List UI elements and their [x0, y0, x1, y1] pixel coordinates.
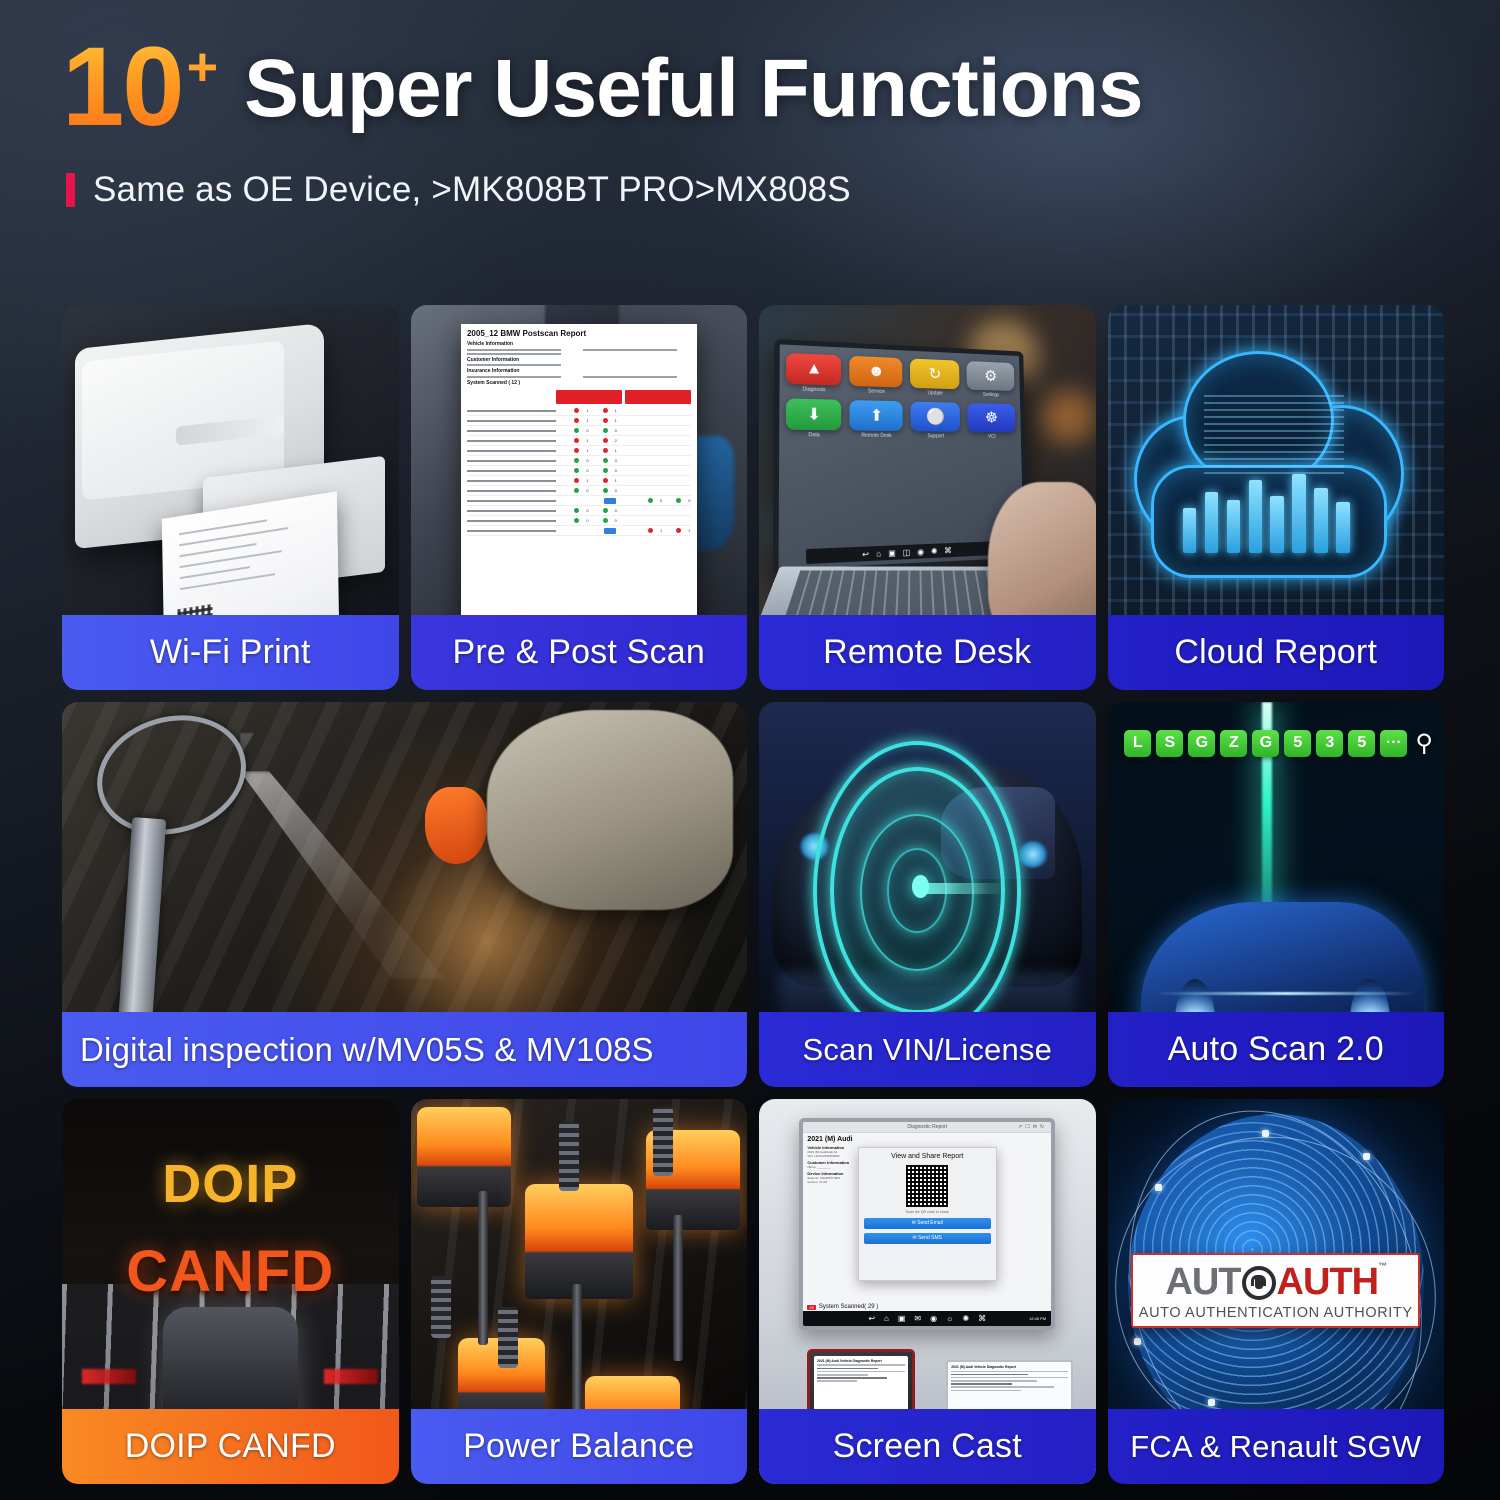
feature-card-screen-cast[interactable]: Diagnostic Report ↗☐✉↻ 2021 (M) Audi Veh… — [759, 1099, 1096, 1484]
tablet-screen: Diagnostic Report ↗☐✉↻ 2021 (M) Audi Veh… — [803, 1122, 1051, 1326]
app-grid: ▲ Diagnosis ☻ Service ↻ Update ⚙ — [786, 352, 1016, 439]
vin-char: S — [1156, 730, 1183, 757]
page-subtitle: Same as OE Device, >MK808BT PRO>MX808S — [93, 170, 851, 210]
system-scanned-label: System Scanned( 29 ) — [819, 1304, 878, 1310]
card-label-scan-vin-license: Scan VIN/License — [759, 1012, 1096, 1087]
page-header: 10 + Super Useful Functions Same as OE D… — [62, 34, 1440, 210]
report-section-insurance: Insurance Information — [467, 368, 691, 374]
feature-card-power-balance[interactable]: Power Balance — [411, 1099, 748, 1484]
subtitle-accent-bar — [66, 173, 75, 207]
card-label-fca-renault-sgw: FCA & Renault SGW — [1108, 1409, 1445, 1484]
feature-card-doip-canfd[interactable]: DOIP CANFD DOIP CANFD — [62, 1099, 399, 1484]
screenshot-icon[interactable]: ◫ — [903, 547, 911, 557]
column-postscan — [625, 390, 691, 404]
card-label-auto-scan: Auto Scan 2.0 — [1108, 1012, 1445, 1087]
vin-char-ellipsis: ··· — [1380, 730, 1407, 757]
vin-char: 5 — [1284, 730, 1311, 757]
gear-icon[interactable]: ⚙ — [967, 361, 1015, 391]
report-row-list: 11 11 00 12 11 00 00 11 00 00 00 00 11 — [467, 406, 691, 536]
home-icon[interactable]: ⌂ — [884, 1314, 889, 1323]
apps-icon[interactable]: ▣ — [888, 548, 896, 558]
recents-icon[interactable]: ▣ — [898, 1314, 906, 1323]
feature-card-auto-scan[interactable]: L S G Z G 5 3 5 ··· ⚲ Auto Scan 2.0 — [1108, 702, 1445, 1087]
vin-char: Z — [1220, 730, 1247, 757]
table-row: 00 — [467, 426, 691, 436]
subtitle-row: Same as OE Device, >MK808BT PRO>MX808S — [66, 170, 1440, 210]
vci-icon[interactable]: ⌘ — [978, 1314, 986, 1323]
vin-char: G — [1188, 730, 1215, 757]
report-vehicle-title: 2021 (M) Audi — [807, 1136, 901, 1143]
update-icon[interactable]: ↻ — [910, 358, 960, 389]
window-titlebar: Diagnostic Report ↗☐✉↻ — [803, 1122, 1051, 1133]
vci-icon[interactable]: ⌘ — [944, 545, 952, 554]
back-icon[interactable]: ↩ — [868, 1314, 875, 1323]
table-row: 00 — [467, 486, 691, 496]
app-label: Update — [910, 389, 960, 396]
table-row: 00 — [467, 506, 691, 516]
home-icon[interactable]: ⌂ — [876, 548, 881, 558]
app-label: Data — [786, 431, 842, 438]
mini-report-title: 2021 (M) Audi Vehicle Diagnostic Report — [817, 1359, 905, 1363]
trademark-symbol: ™ — [1378, 1261, 1386, 1271]
feature-grid: Wi-Fi Print 2005_12 BMW Postscan Report … — [62, 305, 1444, 1484]
record-icon[interactable]: ◉ — [930, 1314, 937, 1323]
headline-plus: + — [187, 40, 219, 94]
table-row: 12 — [467, 436, 691, 446]
laptop-taskbar[interactable]: ↩ ⌂ ▣ ◫ ◉ ✺ ⌘ — [806, 541, 1002, 564]
column-prescan — [556, 390, 622, 404]
feature-card-cloud-report[interactable]: Cloud Report — [1108, 305, 1445, 690]
settings-network-icon[interactable]: ☸ — [968, 402, 1016, 431]
search-icon[interactable]: ⚲ — [1415, 729, 1433, 758]
brightness-icon[interactable]: ✺ — [962, 1314, 969, 1323]
status-badge: 29 — [807, 1305, 815, 1310]
card-label-doip-canfd: DOIP CANFD — [62, 1409, 399, 1484]
autoauth-word-right: AUTH — [1277, 1261, 1379, 1304]
service-user-icon[interactable]: ☻ — [850, 355, 903, 387]
app-label: Support — [911, 433, 961, 439]
card-label-digital-inspection: Digital inspection w/MV05S & MV108S — [62, 1012, 747, 1087]
app-label: VCI — [968, 433, 1016, 439]
headline-number: 10 — [62, 34, 183, 140]
vin-char: G — [1252, 730, 1279, 757]
card-label-screen-cast: Screen Cast — [759, 1409, 1096, 1484]
vin-character-chips: L S G Z G 5 3 5 ··· ⚲ — [1124, 729, 1433, 758]
report-column-headers — [467, 390, 691, 404]
table-row: 11 — [467, 416, 691, 426]
feature-card-pre-post-scan[interactable]: 2005_12 BMW Postscan Report Vehicle Info… — [411, 305, 748, 690]
vin-char: 3 — [1316, 730, 1343, 757]
card-label-remote-desk: Remote Desk — [759, 615, 1096, 690]
feature-card-fca-renault-sgw[interactable]: AUT AUTH ™ AUTO AUTHENTICATION AUTHORITY… — [1108, 1099, 1445, 1484]
app-label: Settings — [967, 391, 1014, 398]
report-scanned-heading: System Scanned ( 12 ) — [467, 380, 691, 386]
titlebar-icons[interactable]: ↗☐✉↻ — [1018, 1124, 1047, 1130]
dialog-title: View and Share Report — [864, 1153, 991, 1160]
autoauth-word-left: AUT — [1165, 1261, 1240, 1304]
report-footer-note — [467, 539, 691, 545]
system-scanned-status: 29 System Scanned( 29 ) — [807, 1304, 878, 1310]
feature-card-wifi-print[interactable]: Wi-Fi Print — [62, 305, 399, 690]
remote-desk-icon[interactable]: ⬆ — [850, 400, 903, 431]
mail-icon[interactable]: ✉ — [914, 1314, 921, 1323]
table-row: 11 — [467, 526, 691, 536]
share-report-dialog: View and Share Report Scan the QR code t… — [858, 1147, 997, 1281]
card-label-power-balance: Power Balance — [411, 1409, 748, 1484]
camera-icon[interactable]: ◉ — [917, 547, 924, 556]
app-label: Diagnosis — [786, 385, 842, 393]
doip-line-1: DOIP — [62, 1153, 399, 1215]
page-title: Super Useful Functions — [244, 48, 1142, 130]
report-section-customer: Customer Information — [467, 357, 691, 363]
app-label: Remote Desk — [850, 432, 903, 439]
app-label: Service — [850, 387, 903, 395]
qr-code-icon — [906, 1165, 948, 1207]
table-row: 11 — [467, 476, 691, 486]
car-icon[interactable]: ▲ — [786, 352, 841, 385]
autoauth-wordmark: AUT AUTH ™ — [1137, 1261, 1414, 1304]
table-row: 00 — [467, 466, 691, 476]
qr-hint-text: Scan the QR code to share — [864, 1210, 991, 1214]
table-row: 00 — [467, 496, 691, 506]
download-icon[interactable]: ⬇ — [786, 398, 842, 430]
postscan-report-document: 2005_12 BMW Postscan Report Vehicle Info… — [461, 324, 697, 663]
vin-char: L — [1124, 730, 1151, 757]
card-label-pre-post-scan: Pre & Post Scan — [411, 615, 748, 690]
send-email-button[interactable]: ✉ Send Email — [864, 1218, 991, 1229]
promo-page: 10 + Super Useful Functions Same as OE D… — [0, 0, 1500, 1500]
table-row: 00 — [467, 456, 691, 466]
feature-card-scan-vin-license[interactable]: Scan VIN/License — [759, 702, 1096, 1087]
table-row: 11 — [467, 446, 691, 456]
table-row: 00 — [467, 516, 691, 526]
report-section-vehicle: Vehicle Information — [467, 341, 691, 347]
card-label-wifi-print: Wi-Fi Print — [62, 615, 399, 690]
gloved-hand — [487, 710, 734, 910]
data-bars — [1183, 455, 1350, 554]
window-title: Diagnostic Report — [907, 1124, 947, 1130]
autoauth-logo: AUT AUTH ™ AUTO AUTHENTICATION AUTHORITY — [1131, 1253, 1420, 1328]
camera-icon[interactable]: ☼ — [946, 1314, 953, 1323]
tablet-device: Diagnostic Report ↗☐✉↻ 2021 (M) Audi Veh… — [799, 1118, 1055, 1330]
back-icon[interactable]: ↩ — [862, 549, 869, 559]
cloud-icon — [1134, 351, 1403, 597]
headline: 10 + Super Useful Functions — [62, 34, 1440, 140]
send-sms-button[interactable]: ✉ Send SMS — [864, 1233, 991, 1244]
lock-icon — [1242, 1266, 1276, 1300]
table-row: 11 — [467, 406, 691, 416]
vin-char: 5 — [1348, 730, 1375, 757]
status-clock: 12:45 PM — [1029, 1316, 1046, 1321]
android-navbar[interactable]: ↩ ⌂ ▣ ✉ ◉ ☼ ✺ ⌘ 12:45 PM — [803, 1311, 1051, 1326]
shield-user-icon[interactable]: ⚪ — [910, 401, 960, 431]
feature-card-digital-inspection[interactable]: Digital inspection w/MV05S & MV108S — [62, 702, 747, 1087]
brightness-icon[interactable]: ✺ — [931, 546, 938, 555]
card-label-cloud-report: Cloud Report — [1108, 615, 1445, 690]
doip-line-2: CANFD — [62, 1238, 399, 1305]
autoauth-tagline: AUTO AUTHENTICATION AUTHORITY — [1137, 1305, 1414, 1321]
report-title: 2005_12 BMW Postscan Report — [467, 329, 691, 338]
feature-card-remote-desk[interactable]: ▲ Diagnosis ☻ Service ↻ Update ⚙ — [759, 305, 1096, 690]
